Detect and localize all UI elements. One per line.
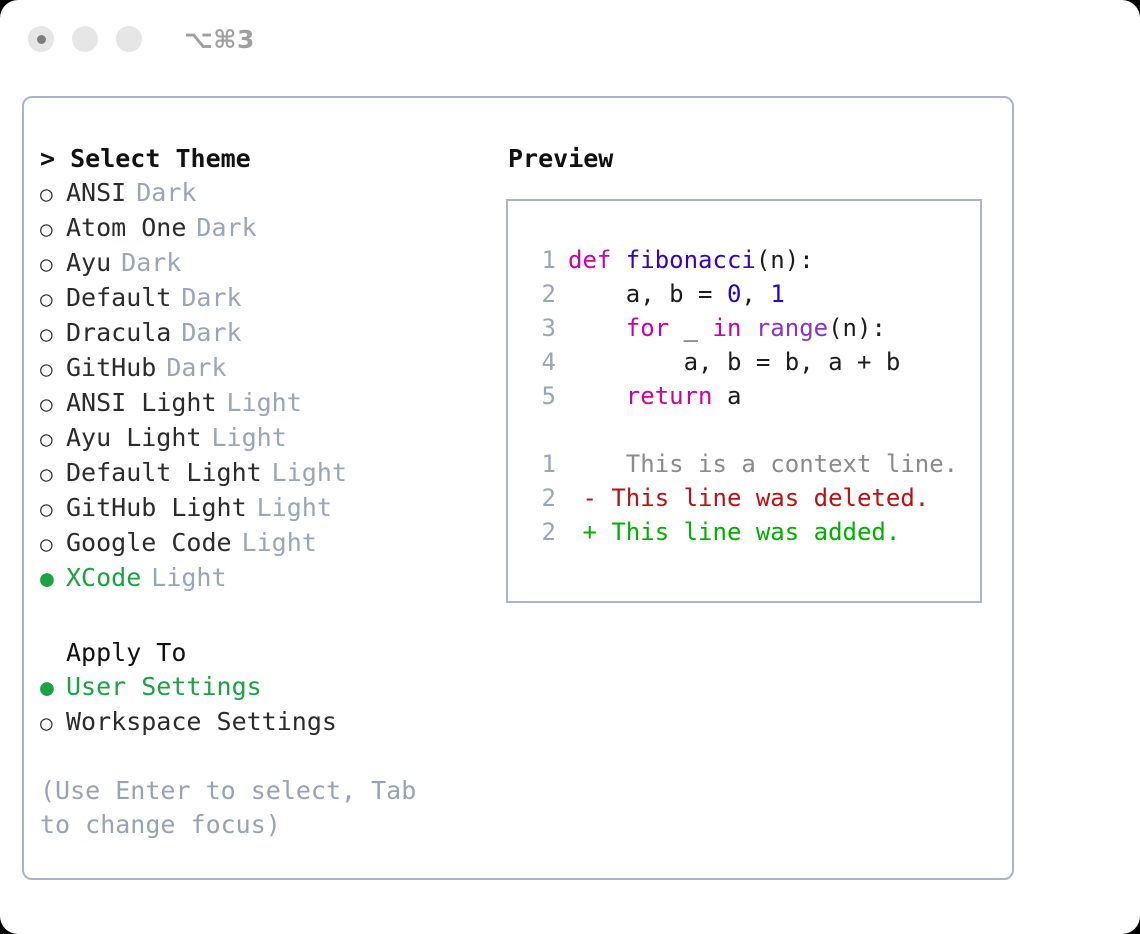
- theme-item-variant-tag: Light: [151, 561, 226, 595]
- radio-unselected-icon: ○: [40, 387, 66, 421]
- code-line-text: a, b = 0, 1: [568, 277, 785, 311]
- title-bar: ⌥⌘3: [0, 0, 1140, 78]
- theme-item-ansi[interactable]: ○ANSIDark: [40, 176, 494, 211]
- code-line-number: 1: [526, 243, 556, 277]
- theme-item-label: Atom One: [66, 211, 186, 245]
- code-token-pln: ,: [741, 280, 770, 308]
- theme-item-variant-tag: Light: [242, 526, 317, 560]
- theme-item-ayu-light[interactable]: ○Ayu LightLight: [40, 421, 494, 456]
- diff-line-number: 2: [526, 515, 556, 549]
- theme-item-google-code[interactable]: ○Google CodeLight: [40, 526, 494, 561]
- theme-item-label: Dracula: [66, 316, 171, 350]
- record-dot-icon[interactable]: [28, 26, 54, 52]
- theme-item-label: Default Light: [66, 456, 262, 490]
- diff-line-del: 2 - This line was deleted.: [526, 481, 980, 515]
- diff-sample: 1 This is a context line.2 - This line w…: [526, 447, 980, 549]
- theme-item-variant-tag: Dark: [181, 281, 241, 315]
- code-line-number: 5: [526, 379, 556, 413]
- code-line-number: 2: [526, 277, 556, 311]
- diff-line-text: + This line was added.: [568, 515, 900, 549]
- theme-item-label: ANSI Light: [66, 386, 217, 420]
- code-token-pln: (n):: [756, 246, 814, 274]
- radio-selected-icon: ●: [40, 562, 66, 596]
- theme-item-label: XCode: [66, 561, 141, 595]
- keyboard-shortcut-label: ⌥⌘3: [184, 25, 255, 54]
- window-controls: [28, 26, 142, 52]
- code-line: 3 for _ in range(n):: [526, 311, 980, 345]
- code-line: 5 return a: [526, 379, 980, 413]
- code-token-pln: (n):: [828, 314, 886, 342]
- apply-to-option-label: User Settings: [66, 670, 262, 704]
- radio-unselected-icon: ○: [40, 492, 66, 526]
- theme-item-label: Ayu Light: [66, 421, 201, 455]
- theme-list[interactable]: ○ANSIDark○Atom OneDark○AyuDark○DefaultDa…: [40, 176, 494, 596]
- code-line-text: return a: [568, 379, 741, 413]
- preview-heading: Preview: [506, 142, 1012, 176]
- theme-item-xcode[interactable]: ●XCodeLight: [40, 561, 494, 596]
- diff-line-number: 2: [526, 481, 556, 515]
- theme-item-label: Google Code: [66, 526, 232, 560]
- preview-column: Preview 1def fibonacci(n):2 a, b = 0, 13…: [494, 142, 1012, 878]
- diff-line-add: 2 + This line was added.: [526, 515, 980, 549]
- theme-item-variant-tag: Light: [272, 456, 347, 490]
- code-token-num: 1: [770, 280, 784, 308]
- theme-item-variant-tag: Dark: [196, 211, 256, 245]
- radio-selected-icon: ●: [40, 671, 66, 705]
- theme-item-github[interactable]: ○GitHubDark: [40, 351, 494, 386]
- apply-to-option-label: Workspace Settings: [66, 705, 337, 739]
- theme-item-ansi-light[interactable]: ○ANSI LightLight: [40, 386, 494, 421]
- theme-item-label: Ayu: [66, 246, 111, 280]
- code-token-kw: def: [568, 246, 626, 274]
- app-window: ⌥⌘3 > Select Theme ○ANSIDark○Atom OneDar…: [0, 0, 1140, 934]
- code-line: 2 a, b = 0, 1: [526, 277, 980, 311]
- diff-line-text: This is a context line.: [568, 447, 958, 481]
- radio-unselected-icon: ○: [40, 422, 66, 456]
- theme-item-github-light[interactable]: ○GitHub LightLight: [40, 491, 494, 526]
- dot-2-icon[interactable]: [72, 26, 98, 52]
- theme-item-variant-tag: Dark: [181, 316, 241, 350]
- keyboard-hint-text: (Use Enter to select, Tab to change focu…: [40, 774, 440, 842]
- radio-unselected-icon: ○: [40, 282, 66, 316]
- diff-line-number: 1: [526, 447, 556, 481]
- code-token-fn: fibonacci: [626, 246, 756, 274]
- diff-line-ctx: 1 This is a context line.: [526, 447, 980, 481]
- radio-unselected-icon: ○: [40, 527, 66, 561]
- apply-to-option-user-settings[interactable]: ●User Settings: [40, 670, 494, 705]
- theme-item-variant-tag: Light: [227, 386, 302, 420]
- theme-item-ayu[interactable]: ○AyuDark: [40, 246, 494, 281]
- theme-item-atom-one[interactable]: ○Atom OneDark: [40, 211, 494, 246]
- radio-unselected-icon: ○: [40, 457, 66, 491]
- theme-item-default-light[interactable]: ○Default LightLight: [40, 456, 494, 491]
- code-line: 1def fibonacci(n):: [526, 243, 980, 277]
- select-theme-heading: > Select Theme: [40, 142, 494, 176]
- theme-item-dracula[interactable]: ○DraculaDark: [40, 316, 494, 351]
- theme-item-variant-tag: Light: [257, 491, 332, 525]
- theme-item-label: GitHub Light: [66, 491, 247, 525]
- main-panel: > Select Theme ○ANSIDark○Atom OneDark○Ay…: [22, 96, 1014, 880]
- code-line-text: for _ in range(n):: [568, 311, 886, 345]
- code-line-number: 3: [526, 311, 556, 345]
- theme-item-variant-tag: Dark: [136, 176, 196, 210]
- code-token-pln: a, b =: [568, 280, 727, 308]
- radio-unselected-icon: ○: [40, 212, 66, 246]
- theme-item-variant-tag: Dark: [121, 246, 181, 280]
- theme-item-label: GitHub: [66, 351, 156, 385]
- radio-unselected-icon: ○: [40, 317, 66, 351]
- record-dot-inner: [37, 35, 46, 44]
- code-line-number: 4: [526, 345, 556, 379]
- code-sample: 1def fibonacci(n):2 a, b = 0, 13 for _ i…: [526, 243, 980, 413]
- code-token-pln: a: [727, 382, 741, 410]
- theme-item-default[interactable]: ○DefaultDark: [40, 281, 494, 316]
- code-token-kw: in: [713, 314, 756, 342]
- code-token-kw: return: [568, 382, 727, 410]
- code-diff-spacer: [526, 413, 980, 447]
- radio-unselected-icon: ○: [40, 706, 66, 740]
- code-line: 4 a, b = b, a + b: [526, 345, 980, 379]
- theme-item-label: ANSI: [66, 176, 126, 210]
- apply-to-heading: Apply To: [40, 636, 494, 670]
- theme-item-variant-tag: Dark: [166, 351, 226, 385]
- code-token-pln: _: [684, 314, 713, 342]
- apply-to-options[interactable]: ●User Settings○Workspace Settings: [40, 670, 494, 740]
- radio-unselected-icon: ○: [40, 352, 66, 386]
- code-token-num: 0: [727, 280, 741, 308]
- diff-line-text: - This line was deleted.: [568, 481, 929, 515]
- apply-to-option-workspace-settings[interactable]: ○Workspace Settings: [40, 705, 494, 740]
- code-token-kw: for: [568, 314, 684, 342]
- preview-box: 1def fibonacci(n):2 a, b = 0, 13 for _ i…: [506, 199, 982, 603]
- radio-unselected-icon: ○: [40, 177, 66, 211]
- theme-selector-column: > Select Theme ○ANSIDark○Atom OneDark○Ay…: [24, 142, 494, 878]
- code-token-call: range: [756, 314, 828, 342]
- theme-item-label: Default: [66, 281, 171, 315]
- theme-item-variant-tag: Light: [211, 421, 286, 455]
- code-line-text: def fibonacci(n):: [568, 243, 814, 277]
- code-line-text: a, b = b, a + b: [568, 345, 900, 379]
- dot-3-icon[interactable]: [116, 26, 142, 52]
- code-token-pln: a, b = b, a + b: [568, 348, 900, 376]
- radio-unselected-icon: ○: [40, 247, 66, 281]
